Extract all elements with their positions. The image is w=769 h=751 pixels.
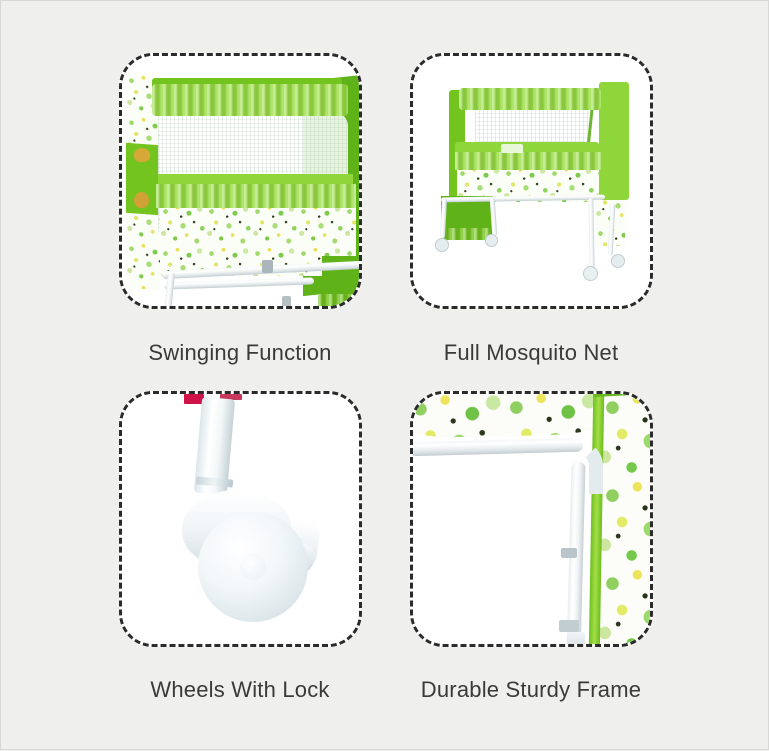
cradle-bottom-ruffle — [318, 294, 359, 306]
feature-card-wheels-with-lock[interactable] — [119, 391, 362, 647]
product-photo-durable-sturdy-frame — [413, 394, 650, 644]
caster-wheel-icon — [435, 238, 449, 252]
frame-clamp — [561, 548, 577, 558]
cradle-top-ruffle — [152, 84, 348, 116]
brand-logo-patch — [501, 144, 523, 153]
wheel-hub — [240, 554, 266, 580]
feature-caption-wheels-with-lock: Wheels With Lock — [119, 647, 362, 727]
feature-grid-page: Swinging Function Full Mosquito Net — [0, 0, 769, 750]
feature-caption-swinging-function: Swinging Function — [119, 309, 362, 391]
feature-card-durable-sturdy-frame[interactable] — [410, 391, 653, 647]
swing-joint-icon — [282, 296, 291, 306]
animal-motif-icon — [134, 148, 150, 162]
product-photo-swinging-function — [122, 56, 359, 306]
caster-wheel-icon — [611, 254, 625, 268]
product-photo-full-mosquito-net — [413, 56, 650, 306]
feature-grid: Swinging Function Full Mosquito Net — [1, 1, 769, 751]
frame-horizontal-bar — [163, 277, 313, 289]
cradle-mid-ruffle — [156, 184, 356, 208]
swing-joint-icon — [262, 260, 273, 273]
brake-release-red-tab — [184, 394, 204, 404]
frame-leg — [588, 198, 594, 268]
feature-card-full-mosquito-net[interactable] — [410, 53, 653, 309]
animal-motif-icon — [134, 192, 149, 208]
feature-card-swinging-function[interactable] — [119, 53, 362, 309]
product-photo-wheels-with-lock — [122, 394, 359, 644]
crib-top-ruffle — [459, 88, 601, 110]
crib-top-fabric-panel — [413, 394, 621, 438]
crib-side-fabric-panel — [599, 394, 650, 644]
caster-wheel-icon — [583, 266, 598, 281]
frame-clamp — [559, 620, 579, 632]
feature-caption-full-mosquito-net: Full Mosquito Net — [410, 309, 653, 391]
feature-caption-durable-sturdy-frame: Durable Sturdy Frame — [410, 647, 653, 727]
crib-right-post — [599, 82, 629, 200]
frame-foot — [567, 632, 585, 644]
caster-wheel-icon — [485, 234, 498, 247]
crib-mid-ruffle — [455, 152, 601, 170]
